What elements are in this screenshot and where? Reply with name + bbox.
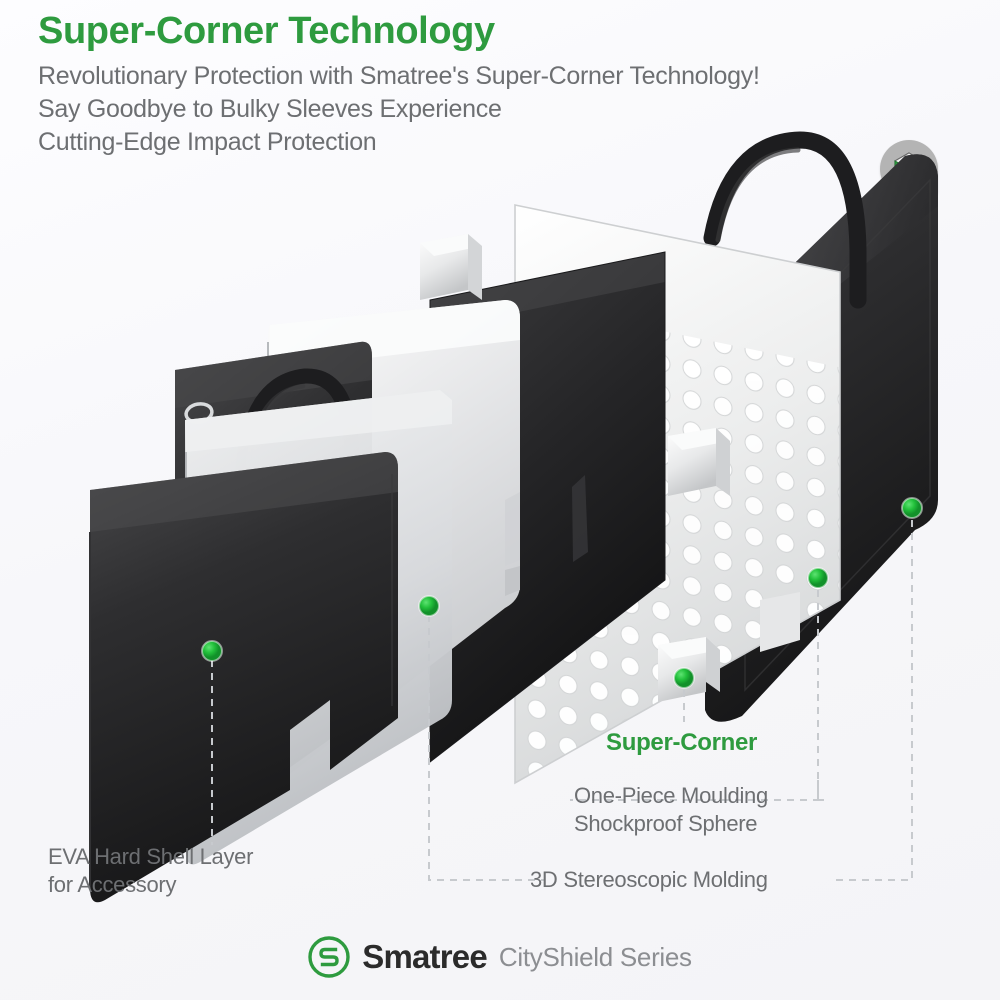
corner-bumper-bottom <box>658 637 720 702</box>
handle-outer <box>712 140 858 300</box>
page-title: Super-Corner Technology <box>38 8 938 56</box>
layer-front-silver-panel <box>185 390 452 864</box>
layer-middle-black-panel <box>430 252 665 762</box>
cube-3d-icon <box>880 140 938 198</box>
header-block: Super-Corner Technology Revolutionary Pr… <box>38 8 938 159</box>
layer-inner-sleeve <box>175 342 372 841</box>
brand-name: Smatree <box>362 938 487 976</box>
layer-shockproof-sphere-sheet <box>505 205 855 971</box>
callout-label-eva: EVA Hard Shell Layer for Accessory <box>48 843 253 898</box>
layer-laptop-device <box>268 300 520 780</box>
subtitle-line-2: Say Goodbye to Bulky Sleeves Experience <box>38 93 938 126</box>
dot-super-corner <box>674 668 694 688</box>
series-name: CityShield Series <box>499 942 692 973</box>
corner-bumper-top-left <box>420 234 482 300</box>
corner-bumper-middle-right <box>668 428 730 496</box>
3d-view-badge[interactable]: 3D View <box>878 140 940 228</box>
layer-eva-hard-shell <box>90 452 398 902</box>
handle-inner <box>243 376 352 540</box>
dot-3d-molding <box>419 596 439 616</box>
callout-label-super-corner: Super-Corner <box>606 728 757 758</box>
subtitle-line-3: Cutting-Edge Impact Protection <box>38 126 938 159</box>
leader-lines <box>212 520 912 880</box>
smatree-logo-icon <box>308 936 350 978</box>
handle-inner-highlight <box>248 386 303 465</box>
3d-view-label: 3D View <box>878 201 940 213</box>
dot-eva <box>202 641 222 661</box>
layer-outer-black-shell <box>705 154 938 722</box>
dot-outer-shell <box>902 498 922 518</box>
subtitle-line-1: Revolutionary Protection with Smatree's … <box>38 60 938 93</box>
dot-one-piece <box>808 568 828 588</box>
footer-branding: Smatree CityShield Series <box>0 936 1000 978</box>
infographic-page: Super-Corner Technology Revolutionary Pr… <box>0 0 1000 1000</box>
callout-label-one-piece: One-Piece Moulding Shockproof Sphere <box>574 782 768 837</box>
callout-dots <box>202 498 922 688</box>
handle-outer-highlight <box>718 150 798 240</box>
callout-label-3d-molding: 3D Stereoscopic Molding <box>530 866 768 894</box>
